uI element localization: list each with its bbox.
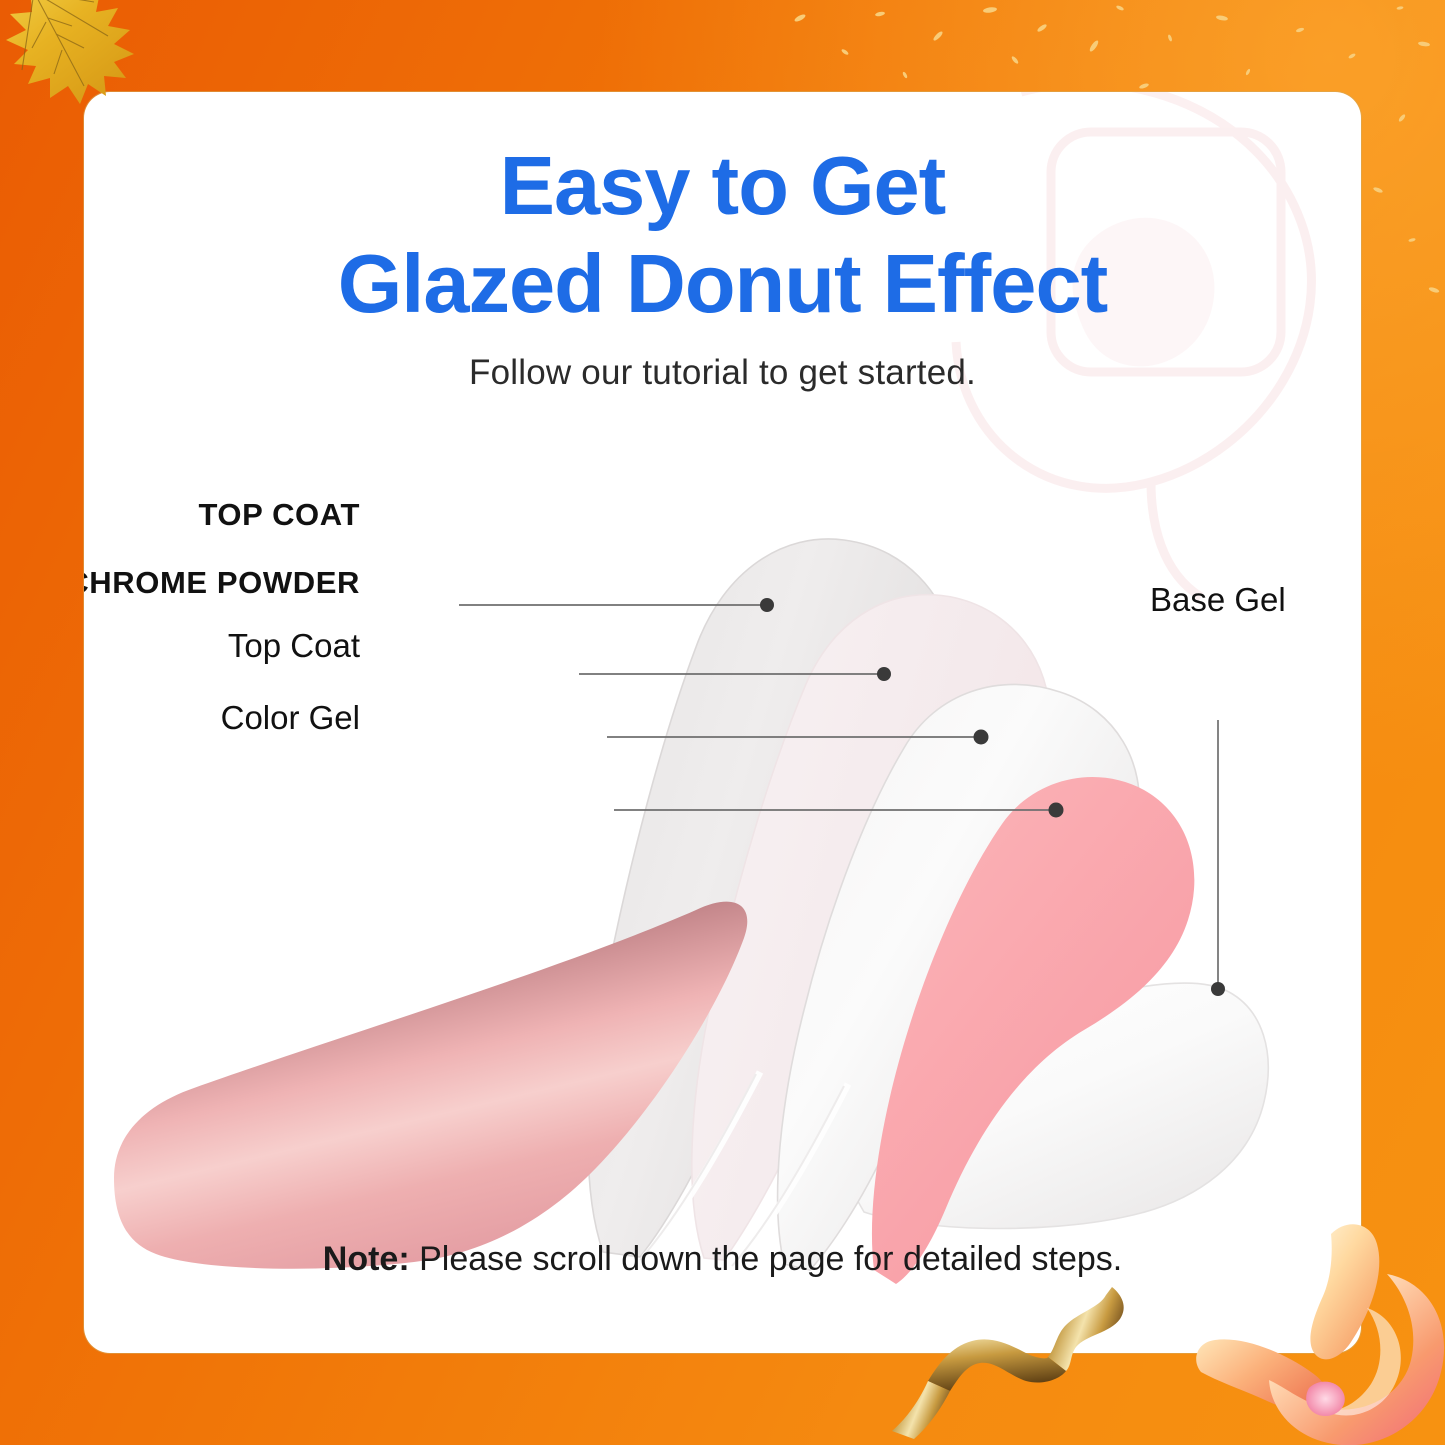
content-card: Easy to Get Glazed Donut Effect Follow o… (84, 92, 1361, 1353)
note-text: Please scroll down the page for detailed… (410, 1240, 1123, 1278)
maple-leaf-icon (0, 0, 188, 178)
promo-banner: Easy to Get Glazed Donut Effect Follow o… (0, 0, 1445, 1445)
label-chrome-powder: CHROME POWDER (84, 565, 360, 601)
leader-dot-top-coat (974, 730, 989, 745)
label-base-gel: Base Gel (1150, 581, 1286, 619)
label-top-coat-caps: TOP COAT (198, 497, 360, 533)
leader-dot-color-gel (1049, 803, 1064, 818)
leader-dot-top-coat-caps (760, 598, 774, 612)
leader-dot-chrome-powder (877, 667, 891, 681)
note: Note: Please scroll down the page for de… (84, 1240, 1361, 1279)
gold-ribbon-icon (880, 1285, 1210, 1445)
label-color-gel: Color Gel (221, 699, 360, 737)
note-keyword: Note: (323, 1240, 410, 1278)
flower-swirl-icon (1191, 1212, 1445, 1445)
leader-dot-base-gel (1211, 982, 1225, 996)
label-top-coat: Top Coat (228, 627, 360, 665)
